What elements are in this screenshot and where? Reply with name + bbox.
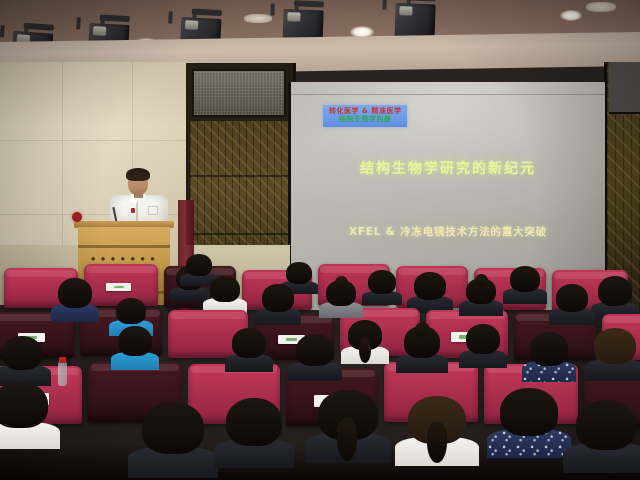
audience-member-head: [210, 276, 240, 302]
ventilation-grille: [192, 69, 286, 117]
audience-member-head: [2, 336, 42, 370]
audience-member: [368, 270, 396, 294]
slide-banner: 转化医学 & 精准医学 结构生物学利器: [323, 105, 407, 127]
slide-banner-line1: 转化医学 & 精准医学: [329, 107, 401, 115]
audience-member: [58, 278, 92, 308]
audience-member: [594, 328, 636, 364]
seat-crest: [6, 270, 76, 277]
ponytail: [359, 337, 371, 363]
spotlight-arm: [270, 4, 274, 16]
spotlight-lens: [399, 6, 412, 15]
ceiling-downlight: [560, 10, 582, 21]
podium-rail: [78, 245, 170, 248]
seat-crest: [603, 316, 640, 323]
audience-member: [326, 280, 356, 306]
audience-member: [408, 396, 466, 444]
seat-number-tag: [106, 283, 131, 291]
audience-member: [286, 262, 312, 284]
audience-member: [116, 298, 146, 324]
spotlight-arm: [76, 17, 81, 29]
audience-member-head: [0, 382, 48, 428]
audience-member-head: [466, 324, 500, 354]
auditorium-photo: 转化医学 & 精准医学 结构生物学利器 结构生物学研究的新纪元 XFEL & 冷…: [0, 0, 640, 480]
audience-member: [500, 388, 558, 436]
audience-member-head: [296, 334, 334, 366]
ponytail: [427, 422, 447, 463]
hair-bun: [335, 276, 348, 289]
ceiling-vent: [244, 14, 272, 23]
audience-member-head: [116, 298, 146, 324]
audience-member: [466, 278, 496, 304]
audience-member: [186, 254, 212, 276]
audience-member: [556, 284, 588, 312]
water-bottle: [58, 362, 67, 386]
lapel-mic-icon: [131, 208, 135, 213]
audience-member: [142, 402, 204, 454]
seat-crest: [86, 266, 156, 273]
audience-member-head: [226, 398, 282, 446]
audience-member-head: [576, 400, 636, 450]
audience-member: [262, 284, 294, 312]
ceiling-vent: [586, 2, 616, 12]
screen-highlight-line: [291, 94, 605, 95]
ponytail: [337, 418, 357, 461]
audience-member-head: [368, 270, 396, 294]
spotlight-arm: [382, 0, 386, 10]
audience-member-head: [142, 402, 204, 454]
audience-member: [318, 390, 378, 440]
audience-member-head: [598, 276, 632, 306]
audience-member: [530, 332, 568, 366]
audience-member-head: [286, 262, 312, 284]
spotlight-arm: [168, 11, 173, 23]
wood-seam: [190, 175, 288, 177]
audience-member: [348, 320, 382, 350]
seat-crest: [170, 312, 245, 319]
glasses-icon: [129, 179, 147, 183]
audience-member: [232, 328, 266, 358]
tag-green-mark: [114, 286, 124, 289]
bottle-cap: [59, 357, 66, 363]
audience-member-head: [500, 388, 558, 436]
audience-member-head: [232, 328, 266, 358]
slide-title: 结构生物学研究的新纪元: [291, 158, 605, 178]
audience-member: [598, 276, 632, 306]
wood-seam: [190, 233, 288, 235]
audience-member-head: [414, 272, 446, 300]
audience-member-head: [186, 254, 212, 276]
audience-member-head: [118, 326, 152, 356]
audience-member: [296, 334, 334, 366]
spotlight-lens: [287, 12, 300, 21]
audience-member-head: [58, 278, 92, 308]
shirt-pocket: [148, 206, 158, 215]
audience-member: [576, 400, 636, 450]
microphone-head-icon: [72, 212, 82, 222]
audience-member: [466, 324, 500, 354]
slide-subtitle: XFEL & 冷冻电镜技术方法的重大突破: [291, 224, 605, 239]
audience-member: [510, 266, 540, 292]
ventilation-grille: [609, 62, 640, 114]
audience-member: [404, 326, 440, 358]
hair-bun: [475, 274, 488, 287]
spotlight-lens: [185, 20, 198, 30]
slide-banner-line2: 结构生物学利器: [329, 115, 401, 123]
audience-member: [118, 326, 152, 356]
audience-member-head: [530, 332, 568, 366]
audience-member: [226, 398, 282, 446]
audience-member: [0, 382, 48, 428]
spotlight-lens: [93, 26, 106, 36]
audience-member-head: [594, 328, 636, 364]
audience-member-head: [556, 284, 588, 312]
hair-bun: [415, 322, 430, 337]
audience-member: [2, 336, 42, 370]
audience-member-head: [262, 284, 294, 312]
audience-member: [414, 272, 446, 300]
spotlight-arm: [0, 25, 5, 37]
audience-member: [210, 276, 240, 302]
audience-member-head: [510, 266, 540, 292]
